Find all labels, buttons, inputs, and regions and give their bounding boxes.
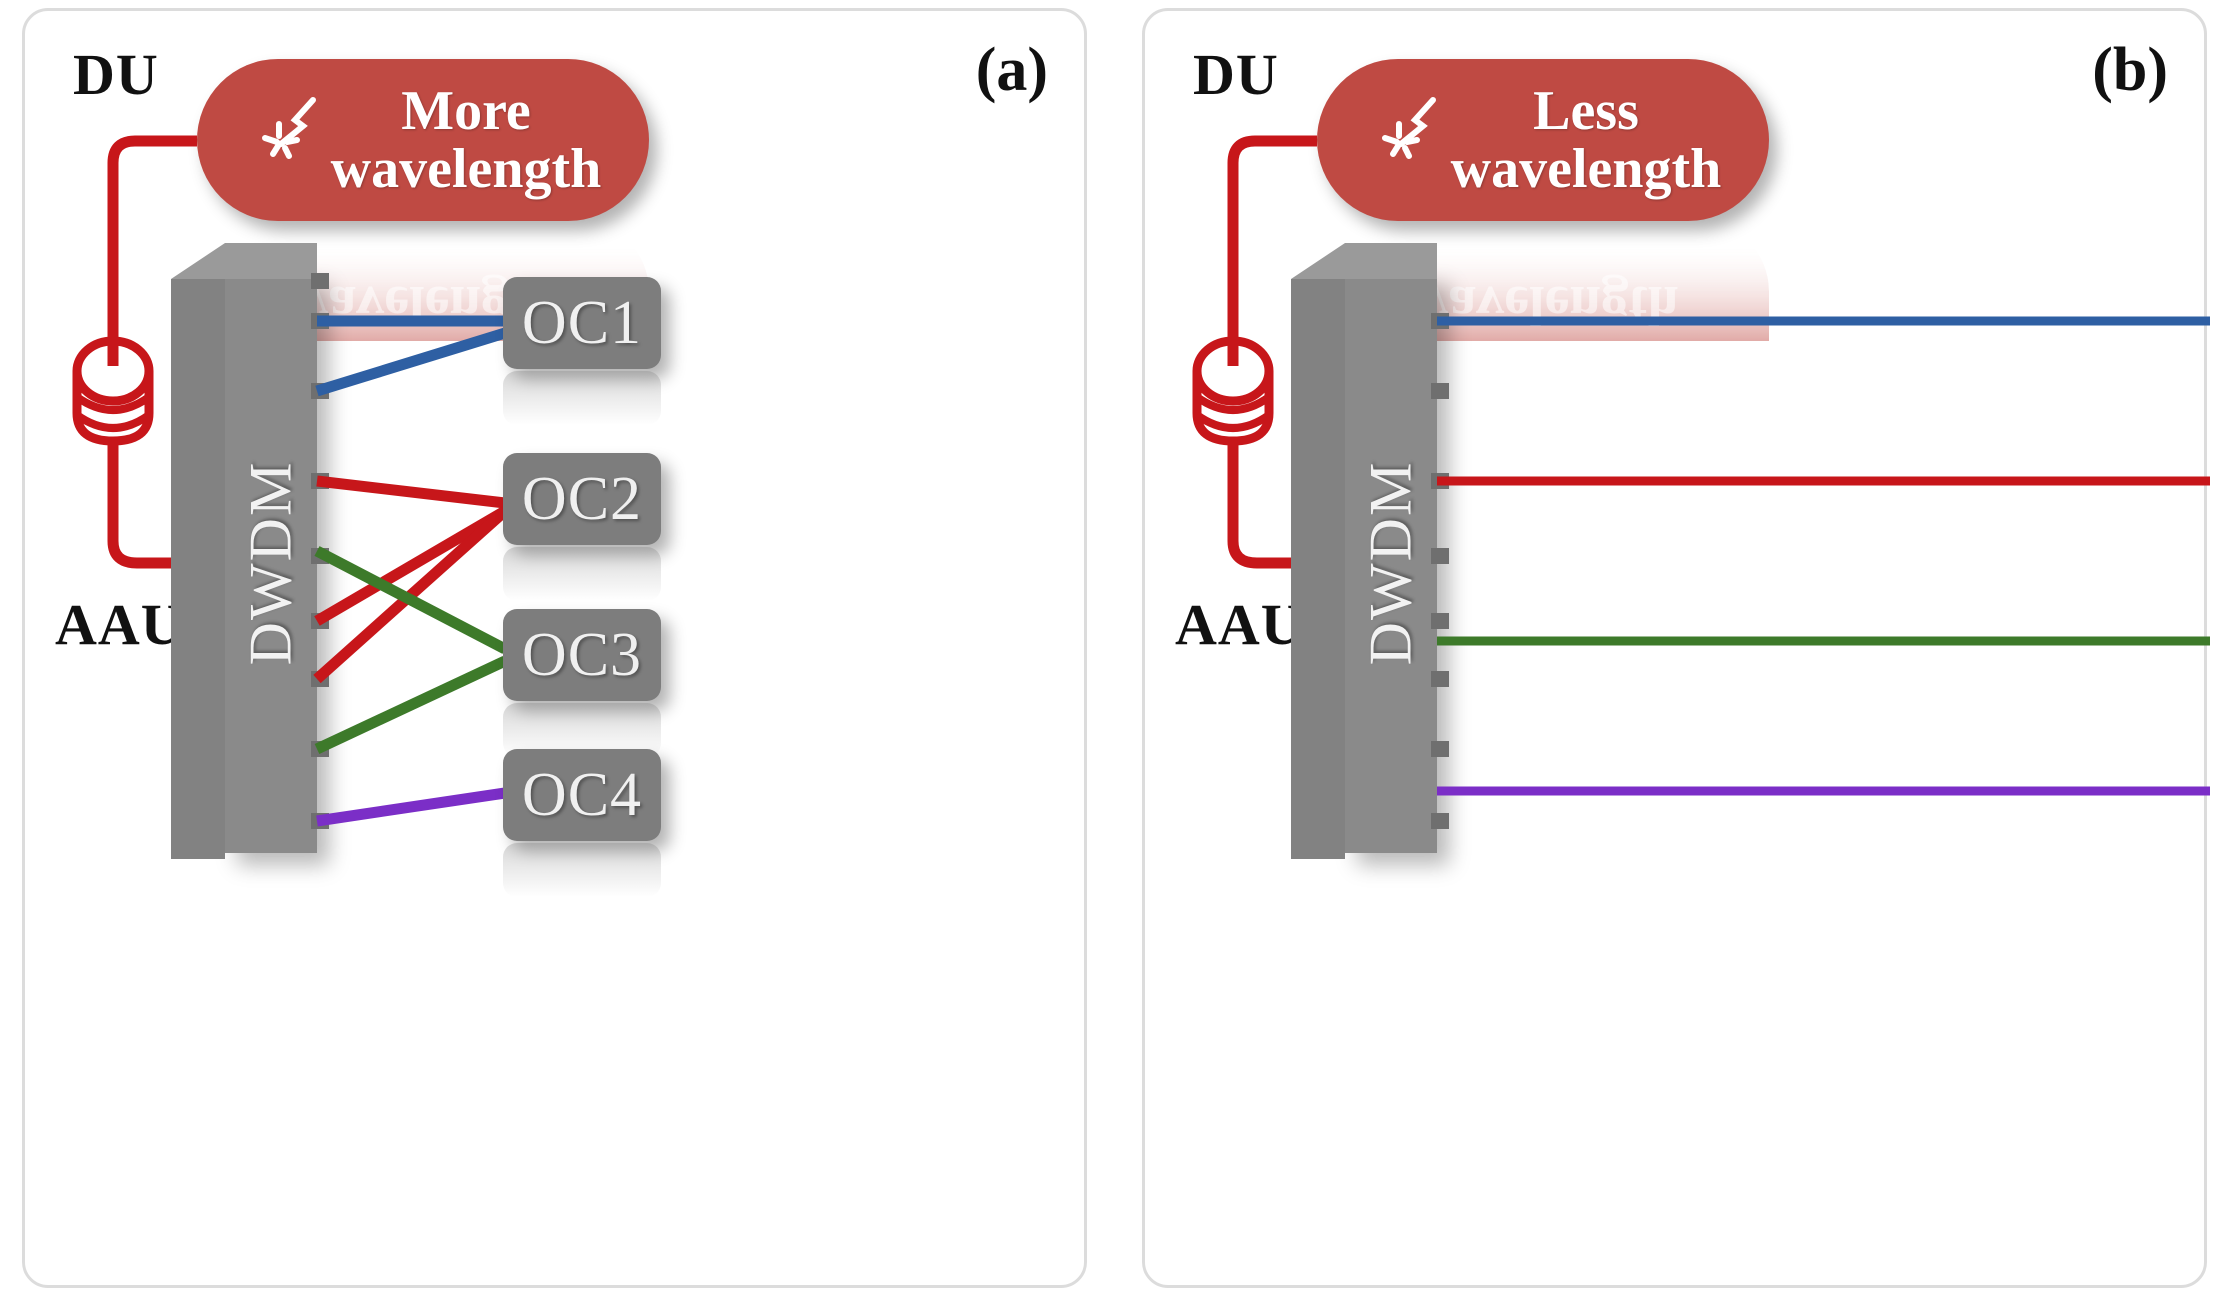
- dwdm-top-face-b: [1291, 243, 1437, 279]
- link-red-1-a: [317, 481, 505, 503]
- aau-label-b: AAU: [1175, 591, 1304, 658]
- oc-node-oc3-a[interactable]: OC3: [503, 609, 661, 701]
- figure-root: DU (a) AAU wavelength: [0, 0, 2238, 1298]
- less-wavelength-badge[interactable]: Less wavelength: [1317, 59, 1769, 221]
- dwdm-port-2-b: [1431, 383, 1449, 399]
- laser-sparkle-icon: [251, 90, 325, 164]
- dwdm-label-b: DWDM: [1357, 461, 1426, 666]
- panel-a: DU (a) AAU wavelength: [22, 8, 1087, 1288]
- panel-label-b: (b): [2092, 35, 2168, 106]
- aau-label-a: AAU: [55, 591, 184, 658]
- dwdm-port-5-b: [1431, 613, 1449, 629]
- dwdm-port-8-a: [311, 813, 329, 829]
- badge-line2-b: wavelength: [1451, 140, 1722, 198]
- dwdm-port-3-b: [1431, 473, 1449, 489]
- oc-reflection-oc1-a: [503, 371, 661, 425]
- oc-label-oc3-a: OC3: [522, 620, 642, 691]
- dwdm-port-5-a: [311, 613, 329, 629]
- panel-label-a: (a): [976, 35, 1048, 106]
- dwdm-port-4-b: [1431, 548, 1449, 564]
- dwdm-port-6-a: [311, 671, 329, 687]
- dwdm-port-1-b: [1431, 313, 1449, 329]
- dwdm-port-1-a: [311, 313, 329, 329]
- oc-node-oc4-a[interactable]: OC4: [503, 749, 661, 841]
- badge-line1-a: More: [331, 82, 602, 140]
- badge-text-b: Less wavelength: [1451, 82, 1722, 198]
- dwdm-side-face-a: [171, 279, 225, 859]
- more-wavelength-badge[interactable]: More wavelength: [197, 59, 649, 221]
- badge-line1-b: Less: [1451, 82, 1722, 140]
- du-label-b: DU: [1193, 41, 1279, 108]
- dwdm-port-7-a: [311, 741, 329, 757]
- oc-reflection-oc4-a: [503, 843, 661, 897]
- dwdm-port-7-b: [1431, 741, 1449, 757]
- oc-node-oc2-a[interactable]: OC2: [503, 453, 661, 545]
- dwdm-port-8-b: [1431, 813, 1449, 829]
- dwdm-device-b[interactable]: DWDM: [1345, 273, 1437, 853]
- dwdm-label-a: DWDM: [237, 461, 306, 666]
- dwdm-port-3-a: [311, 473, 329, 489]
- link-blue-2-a: [317, 333, 505, 391]
- oc-label-oc1-a: OC1: [522, 288, 642, 359]
- dwdm-port-2-a: [311, 383, 329, 399]
- dwdm-top-face-a: [171, 243, 317, 279]
- dwdm-side-face-b: [1291, 279, 1345, 859]
- oc-node-oc1-a[interactable]: OC1: [503, 277, 661, 369]
- link-purple-1-a: [317, 793, 505, 821]
- dwdm-device-a[interactable]: DWDM: [225, 273, 317, 853]
- oc-label-oc4-a: OC4: [522, 760, 642, 831]
- link-red-2-a: [317, 511, 505, 621]
- badge-line2-a: wavelength: [331, 140, 602, 198]
- link-red-3-a: [317, 511, 505, 679]
- link-green-2-a: [317, 661, 505, 749]
- panel-b: DU (b) AAU wavelength Les: [1142, 8, 2207, 1288]
- oc-reflection-oc2-a: [503, 547, 661, 601]
- dwdm-port-6-b: [1431, 671, 1449, 687]
- badge-text-a: More wavelength: [331, 82, 602, 198]
- laser-sparkle-icon: [1371, 90, 1445, 164]
- du-label-a: DU: [73, 41, 159, 108]
- link-green-1-a: [317, 551, 505, 649]
- dwdm-port-4-a: [311, 548, 329, 564]
- oc-label-oc2-a: OC2: [522, 464, 642, 535]
